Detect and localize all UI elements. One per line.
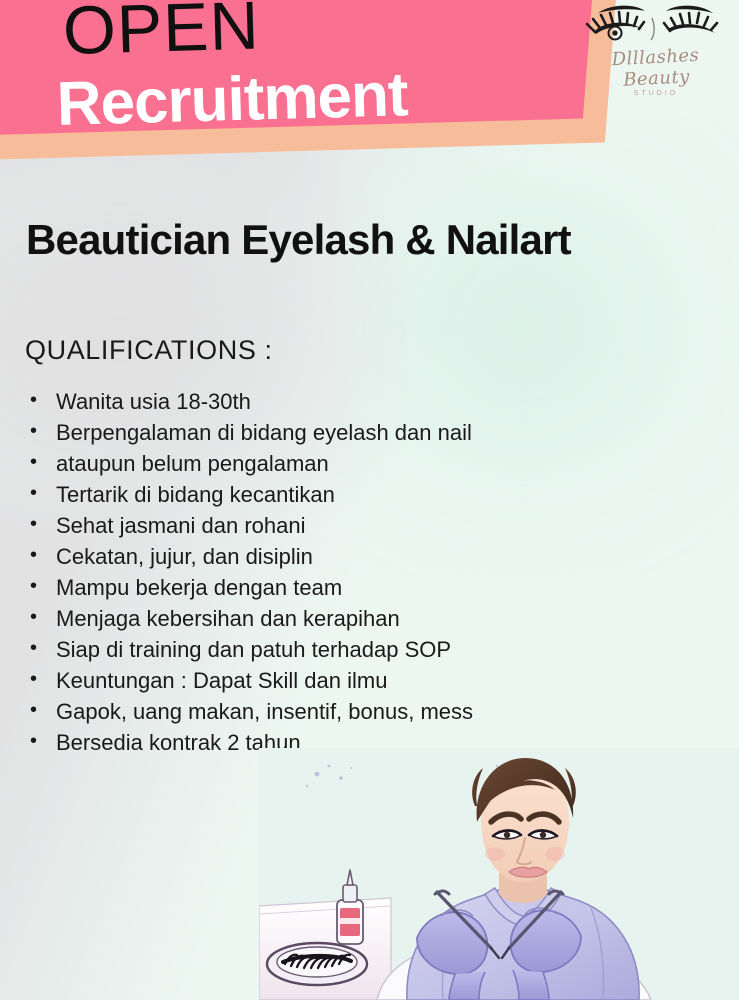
- page-title: Beautician Eyelash & Nailart: [26, 216, 571, 264]
- list-item: Cekatan, jujur, dan disiplin: [22, 541, 622, 572]
- list-item: Siap di training dan patuh terhadap SOP: [22, 634, 622, 665]
- header-line-recruitment: Recruitment: [56, 64, 408, 136]
- brand-name-text: Dlllashes Beauty: [580, 43, 732, 93]
- list-item: Sehat jasmani dan rohani: [22, 510, 622, 541]
- list-item: Menjaga kebersihan dan kerapihan: [22, 603, 622, 634]
- list-item: Gapok, uang makan, insentif, bonus, mess: [22, 696, 622, 727]
- list-item: Mampu bekerja dengan team: [22, 572, 622, 603]
- brand-logo: Dlllashes Beauty STUDIO: [581, 2, 731, 86]
- qualifications-list: Wanita usia 18-30th Berpengalaman di bid…: [22, 386, 622, 758]
- qualifications-heading: QUALIFICATIONS :: [25, 335, 273, 366]
- recruitment-poster: OPEN Recruitment: [0, 0, 739, 1000]
- header-line-open: OPEN: [62, 0, 261, 65]
- list-item: ataupun belum pengalaman: [22, 448, 622, 479]
- lash-technician-illustration: [259, 748, 739, 1000]
- list-item: Keuntungan : Dapat Skill dan ilmu: [22, 665, 622, 696]
- list-item: Berpengalaman di bidang eyelash dan nail: [22, 417, 622, 448]
- list-item: Wanita usia 18-30th: [22, 386, 622, 417]
- list-item: Tertarik di bidang kecantikan: [22, 479, 622, 510]
